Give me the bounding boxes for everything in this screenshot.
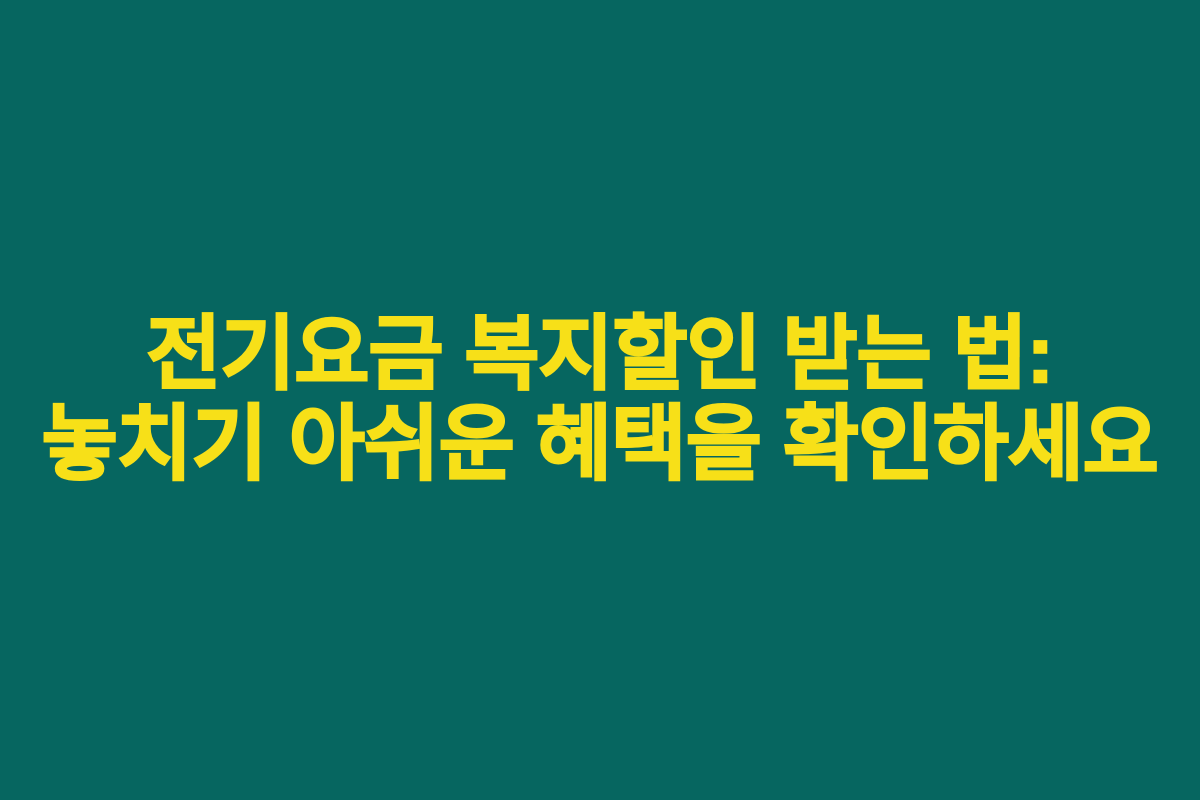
title-card: 전기요금 복지할인 받는 법: 놓치기 아쉬운 혜택을 확인하세요 xyxy=(0,0,1200,800)
title-line-2: 놓치기 아쉬운 혜택을 확인하세요 xyxy=(20,400,1180,490)
title-block: 전기요금 복지할인 받는 법: 놓치기 아쉬운 혜택을 확인하세요 xyxy=(10,310,1190,490)
title-line-1: 전기요금 복지할인 받는 법: xyxy=(20,310,1180,400)
